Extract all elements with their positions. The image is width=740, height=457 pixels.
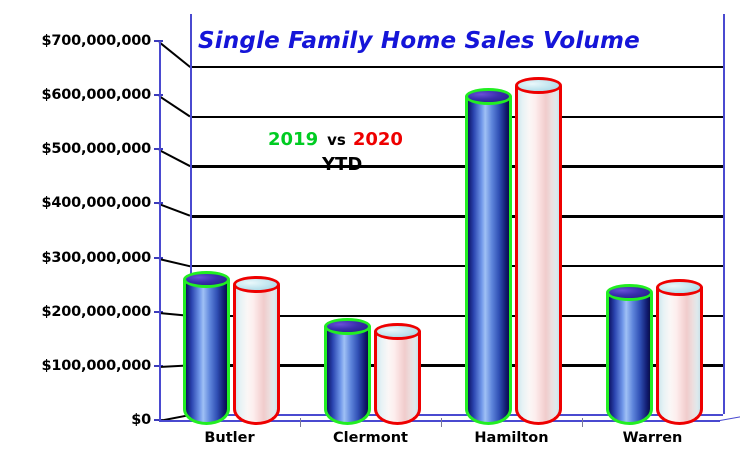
bar-cylinder[interactable]: [515, 77, 562, 425]
x-axis-tick-mark: [300, 418, 301, 427]
bar-cylinder-body: [324, 326, 371, 425]
bar-cylinder-cap: [656, 279, 703, 296]
y-axis-tick-label: $300,000,000: [0, 250, 151, 266]
x-axis-category-label: Hamilton: [474, 430, 548, 446]
bar-cylinder-body: [374, 331, 421, 425]
y-axis-tick-label: $700,000,000: [0, 33, 151, 49]
y-axis-tick-label: $600,000,000: [0, 87, 151, 103]
legend-label-2020: 2020: [353, 129, 403, 150]
bar-cylinder-body: [656, 287, 703, 425]
x-axis-category-label: Butler: [204, 430, 254, 446]
chart-title: Single Family Home Sales Volume: [198, 28, 640, 54]
bar-cylinder-cap: [374, 323, 421, 340]
x-axis-category-label: Clermont: [333, 430, 408, 446]
gridline: [190, 66, 723, 68]
y-axis-tick-label: $500,000,000: [0, 141, 151, 157]
bar-cylinder-body: [515, 86, 562, 425]
gridline: [190, 116, 723, 118]
depth-connector: [158, 95, 190, 118]
plot-right-edge: [723, 14, 725, 414]
legend-label-2019: 2019: [268, 129, 318, 150]
y-axis-line-front: [159, 41, 161, 422]
x-axis-tick-mark: [582, 418, 583, 427]
bar-cylinder-cap: [606, 284, 653, 301]
legend-separator: vs: [327, 131, 346, 149]
bar-cylinder[interactable]: [465, 88, 512, 426]
bar-cylinder[interactable]: [656, 279, 703, 425]
bar-cylinder-cap: [324, 318, 371, 335]
gridline: [190, 215, 723, 217]
depth-connector: [158, 41, 190, 68]
depth-connector: [159, 203, 191, 217]
x-axis-tick-mark: [441, 418, 442, 427]
bar-cylinder-body: [233, 285, 280, 425]
bar-cylinder[interactable]: [324, 318, 371, 425]
bar-cylinder-body: [183, 280, 230, 426]
gridline: [190, 165, 723, 167]
y-axis-tick-label: $400,000,000: [0, 195, 151, 211]
x-axis-category-label: Warren: [623, 430, 683, 446]
bar-cylinder[interactable]: [374, 323, 421, 425]
depth-connector: [159, 258, 191, 268]
y-axis-tick-label: $100,000,000: [0, 358, 151, 374]
y-axis-tick-label: $200,000,000: [0, 304, 151, 320]
bar-cylinder-body: [606, 293, 653, 426]
bar-cylinder[interactable]: [183, 271, 230, 425]
bar-cylinder-cap: [465, 88, 512, 105]
gridline: [190, 265, 723, 267]
y-axis-tick-label: $0: [0, 412, 151, 428]
depth-connector: [158, 149, 190, 167]
chart-canvas: Single Family Home Sales Volume 2019vs20…: [0, 0, 740, 457]
chart-legend: 2019vs2020: [268, 129, 403, 150]
bar-cylinder-body: [465, 96, 512, 425]
bar-cylinder[interactable]: [233, 276, 280, 425]
bar-cylinder[interactable]: [606, 284, 653, 425]
